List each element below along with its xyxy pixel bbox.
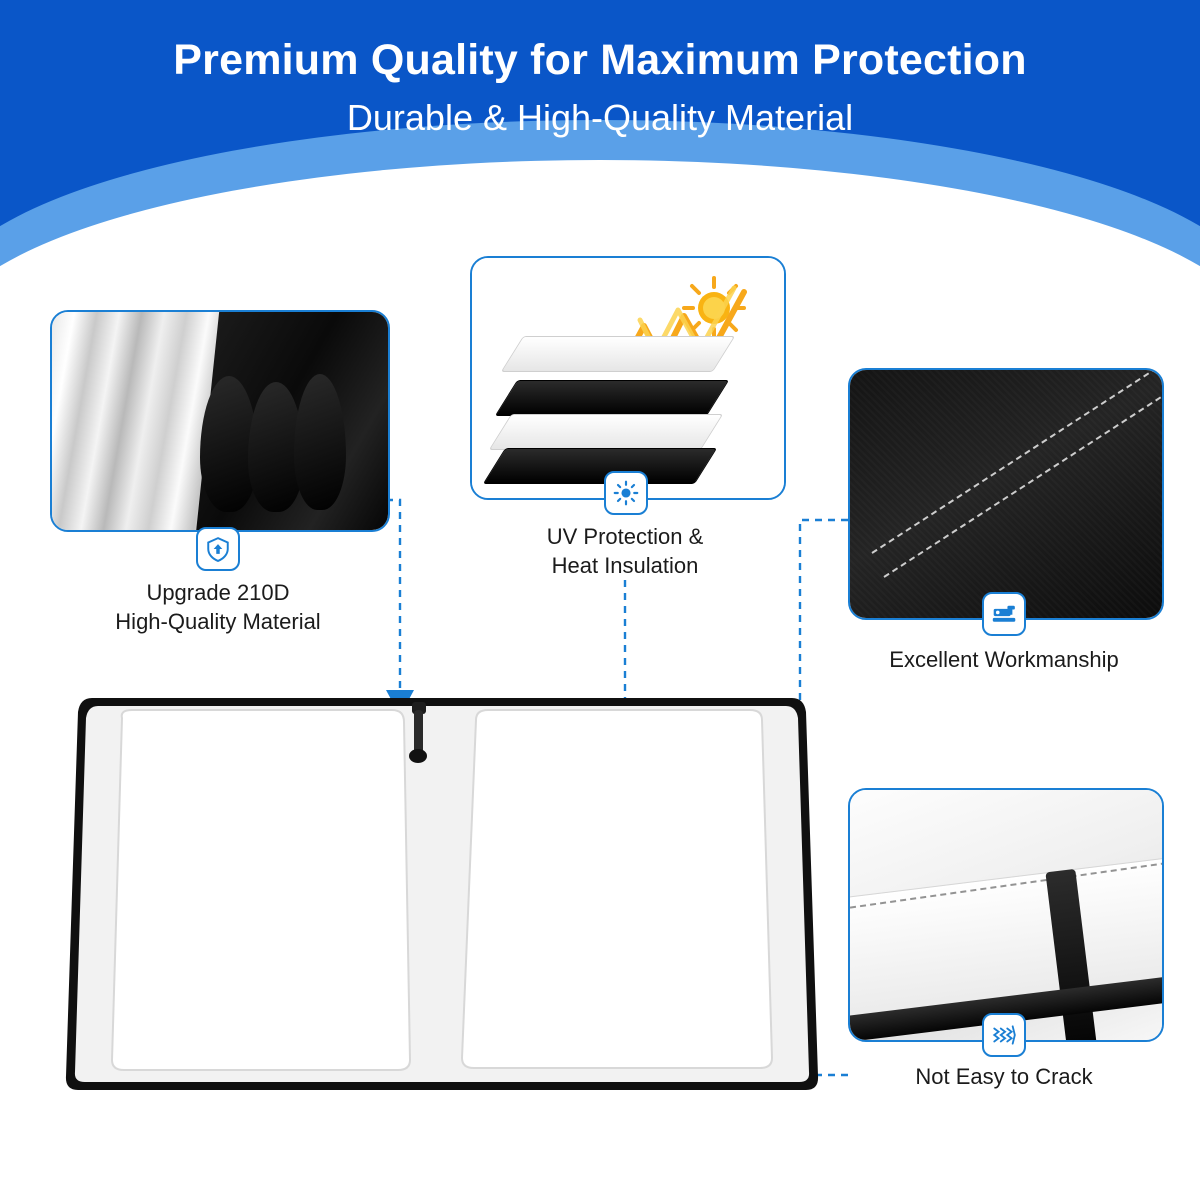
page-subtitle: Durable & High-Quality Material [0,97,1200,139]
workmanship-photo-card [848,368,1164,620]
header-banner: Premium Quality for Maximum Protection D… [0,0,1200,270]
uv-caption: UV Protection & Heat Insulation [460,522,790,580]
workmanship-caption: Excellent Workmanship [838,645,1170,674]
durability-photo-card [848,788,1164,1042]
durability-caption: Not Easy to Crack [838,1062,1170,1091]
multilayer-diagram-photo [472,258,784,498]
sewing-machine-icon [982,592,1026,636]
material-caption: Upgrade 210D High-Quality Material [48,578,388,636]
page-title: Premium Quality for Maximum Protection [0,36,1200,85]
material-photo-card [50,310,390,532]
car-windshield-sunshade [62,690,822,1100]
black-fabric-texture [850,370,1162,618]
layer-white-top [501,336,735,372]
infographic-page: Premium Quality for Maximum Protection D… [0,0,1200,1200]
upgrade-arrow-icon [196,527,240,571]
sun-icon [604,471,648,515]
black-stitching-photo [850,370,1162,618]
layer-black-1 [495,380,729,416]
left-panel [112,710,410,1070]
white-hem-corner-photo [850,790,1162,1040]
layer-white-2 [489,414,723,450]
silver-black-fabric-photo [52,312,388,530]
crack-resistance-icon [982,1013,1026,1057]
uv-photo-card [470,256,786,500]
right-panel [462,710,772,1068]
layer-black-2 [483,448,717,484]
